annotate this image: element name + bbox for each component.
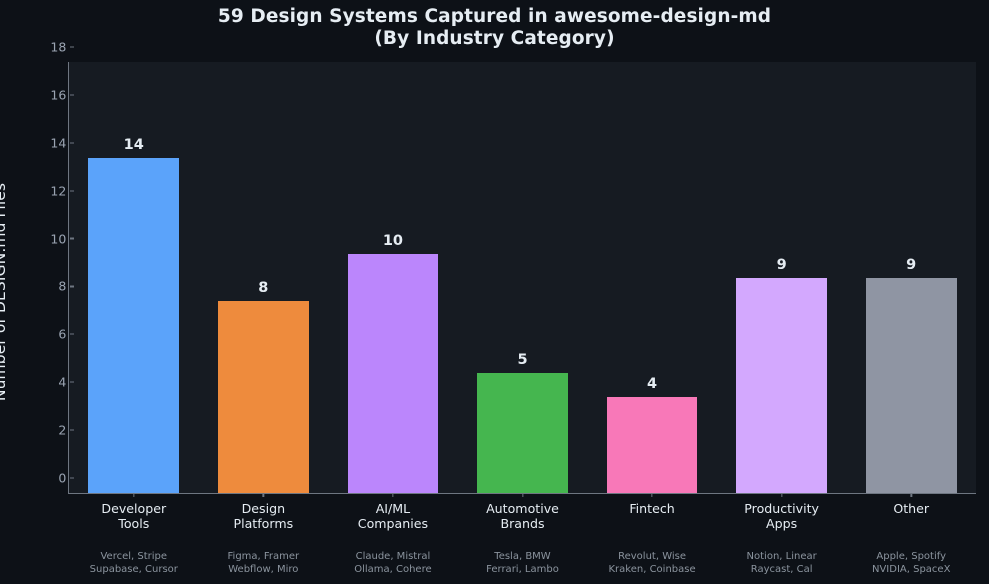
y-tick: 18: [50, 40, 69, 55]
category-examples: Apple, SpotifyNVIDIA, SpaceX: [872, 551, 950, 576]
x-tick-label: DeveloperTools: [101, 501, 166, 531]
category-examples-line1: Notion, Linear: [747, 551, 817, 564]
y-tick: 0: [58, 471, 69, 486]
y-tick-label: 10: [50, 231, 70, 246]
y-tick-mark: [70, 286, 74, 287]
category-examples-line1: Claude, Mistral: [354, 551, 431, 564]
x-tick-label-line1: Automotive: [486, 501, 559, 516]
y-tick-label: 8: [58, 279, 70, 294]
chart-title: 59 Design Systems Captured in awesome-de…: [0, 6, 989, 50]
y-tick-label: 0: [58, 471, 70, 486]
x-tick-label-line2: Brands: [486, 516, 559, 531]
category-examples-line1: Apple, Spotify: [872, 551, 950, 564]
y-tick: 10: [50, 231, 69, 246]
x-tick-mark: [911, 493, 912, 497]
bar-value-label: 9: [777, 257, 787, 273]
x-tick-label: AI/MLCompanies: [358, 501, 428, 531]
y-tick: 14: [50, 135, 69, 150]
x-tick-label-line1: Fintech: [629, 501, 674, 516]
bar[interactable]: 9: [736, 278, 827, 494]
bar-chart-figure: 59 Design Systems Captured in awesome-de…: [0, 0, 989, 584]
x-tick-label: Fintech: [629, 501, 674, 516]
x-tick-label-line2: Apps: [744, 516, 819, 531]
x-tick-label: ProductivityApps: [744, 501, 819, 531]
x-tick-mark: [263, 493, 264, 497]
bar-value-label: 4: [647, 376, 657, 392]
bar[interactable]: 5: [477, 373, 568, 493]
chart-title-main: 59 Design Systems Captured in awesome-de…: [0, 6, 989, 28]
y-tick-mark: [70, 94, 74, 95]
y-tick-label: 12: [50, 183, 70, 198]
bar-value-label: 9: [906, 257, 916, 273]
x-tick-label: AutomotiveBrands: [486, 501, 559, 531]
y-tick-label: 14: [50, 135, 70, 150]
bar-value-label: 10: [383, 233, 403, 249]
category-examples: Notion, LinearRaycast, Cal: [747, 551, 817, 576]
plot-area: 024681012141618 148105499 DeveloperTools…: [68, 62, 976, 494]
category-examples: Figma, FramerWebflow, Miro: [228, 551, 300, 576]
y-axis-label-text: Number of DESIGN.md Files: [0, 183, 9, 401]
category-examples-line2: Supabase, Cursor: [90, 564, 178, 577]
bar[interactable]: 9: [866, 278, 957, 494]
chart-title-subtitle: (By Industry Category): [0, 28, 989, 50]
y-tick: 16: [50, 87, 69, 102]
y-tick: 8: [58, 279, 69, 294]
category-examples-line2: NVIDIA, SpaceX: [872, 564, 950, 577]
y-tick-mark: [70, 429, 74, 430]
bar-value-label: 8: [258, 280, 268, 296]
y-tick-mark: [70, 46, 74, 47]
category-examples: Tesla, BMWFerrari, Lambo: [486, 551, 559, 576]
y-tick-mark: [70, 382, 74, 383]
y-tick-mark: [70, 477, 74, 478]
y-tick-mark: [70, 142, 74, 143]
category-examples-line2: Webflow, Miro: [228, 564, 300, 577]
x-tick-label-line2: Companies: [358, 516, 428, 531]
x-tick-label: Other: [893, 501, 929, 516]
category-examples: Claude, MistralOllama, Cohere: [354, 551, 431, 576]
category-examples-line2: Raycast, Cal: [747, 564, 817, 577]
category-examples: Vercel, StripeSupabase, Cursor: [90, 551, 178, 576]
bar[interactable]: 14: [88, 158, 179, 493]
category-examples-line2: Kraken, Coinbase: [608, 564, 695, 577]
category-examples-line2: Ferrari, Lambo: [486, 564, 559, 577]
category-examples-line1: Tesla, BMW: [486, 551, 559, 564]
y-tick: 4: [58, 375, 69, 390]
x-tick-mark: [651, 493, 652, 497]
bar[interactable]: 4: [607, 397, 698, 493]
x-tick-label-line1: Developer: [101, 501, 166, 516]
x-tick-mark: [392, 493, 393, 497]
y-tick-mark: [70, 190, 74, 191]
bar[interactable]: 8: [218, 301, 309, 493]
x-tick-label-line1: AI/ML: [358, 501, 428, 516]
bar[interactable]: 10: [348, 254, 439, 493]
y-tick-label: 6: [58, 327, 70, 342]
bar-value-label: 14: [124, 137, 144, 153]
bar-value-label: 5: [517, 352, 527, 368]
x-tick-mark: [522, 493, 523, 497]
y-tick-mark: [70, 334, 74, 335]
x-tick-label-line1: Productivity: [744, 501, 819, 516]
y-tick-label: 18: [50, 40, 70, 55]
y-tick: 6: [58, 327, 69, 342]
category-examples-line2: Ollama, Cohere: [354, 564, 431, 577]
x-tick-label-line2: Tools: [101, 516, 166, 531]
x-tick-label: DesignPlatforms: [234, 501, 294, 531]
y-tick-label: 4: [58, 375, 70, 390]
y-tick-label: 16: [50, 87, 70, 102]
y-tick-label: 2: [58, 423, 70, 438]
x-tick-label-line1: Design: [234, 501, 294, 516]
y-tick: 12: [50, 183, 69, 198]
x-tick-mark: [133, 493, 134, 497]
category-examples-line1: Figma, Framer: [228, 551, 300, 564]
category-examples-line1: Revolut, Wise: [608, 551, 695, 564]
y-tick: 2: [58, 423, 69, 438]
category-examples-line1: Vercel, Stripe: [90, 551, 178, 564]
x-tick-mark: [781, 493, 782, 497]
x-tick-label-line2: Platforms: [234, 516, 294, 531]
y-tick-mark: [70, 238, 74, 239]
x-tick-label-line1: Other: [893, 501, 929, 516]
category-examples: Revolut, WiseKraken, Coinbase: [608, 551, 695, 576]
